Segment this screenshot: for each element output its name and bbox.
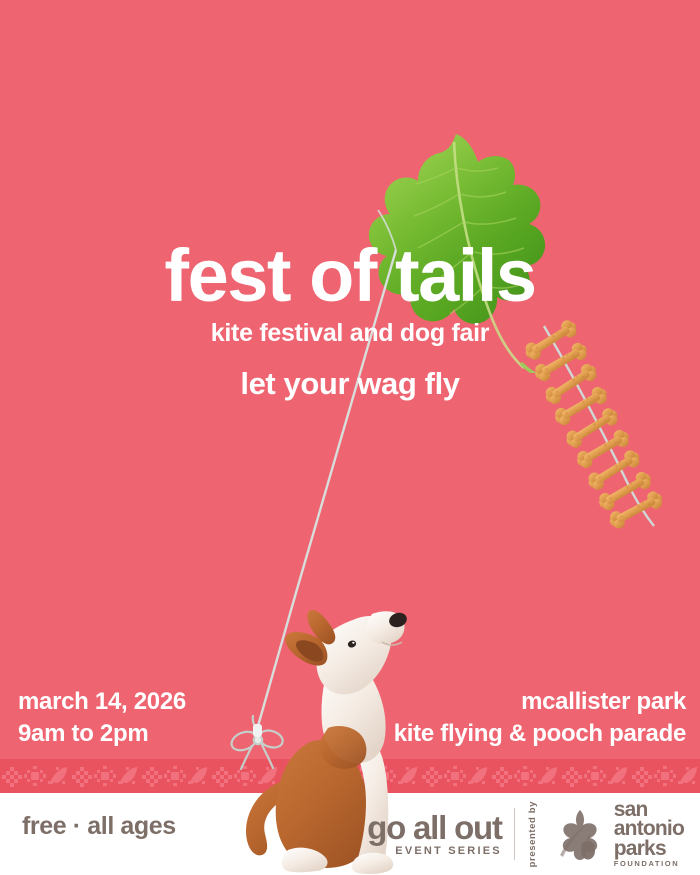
sap-foundation-label: FOUNDATION <box>614 861 684 868</box>
event-time: 9am to 2pm <box>18 718 186 750</box>
sap-line-3: parks <box>614 839 684 858</box>
headline-block: fest of tails kite festival and dog fair… <box>0 240 700 402</box>
page-tagline: let your wag fly <box>0 366 700 402</box>
sap-line-2: antonio <box>614 819 684 838</box>
go-all-out-tagline: EVENT SERIES <box>367 846 502 857</box>
event-activities: kite flying & pooch parade <box>394 718 686 750</box>
go-all-out-wordmark: go all out <box>367 811 502 844</box>
event-location-activities: mcallister park kite flying & pooch para… <box>394 686 686 749</box>
page-title: fest of tails <box>0 240 700 313</box>
event-poster: fest of tails kite festival and dog fair… <box>0 0 700 875</box>
page-subtitle: kite festival and dog fair <box>0 319 700 348</box>
logo-divider <box>514 808 515 860</box>
presented-by-label: presented by <box>527 801 538 867</box>
logo-row: go all out EVENT SERIES presented by <box>367 800 684 868</box>
event-date: march 14, 2026 <box>18 686 186 718</box>
san-antonio-parks-foundation-logo[interactable]: san antonio parks FOUNDATION <box>550 800 684 868</box>
string-bow-on-tail <box>222 714 292 774</box>
event-date-time: march 14, 2026 9am to 2pm <box>18 686 186 749</box>
event-location: mcallister park <box>394 686 686 718</box>
san-antonio-parks-wordmark: san antonio parks FOUNDATION <box>614 800 684 868</box>
free-all-ages-label: free · all ages <box>22 812 176 841</box>
oak-leaf-and-acorn-icon <box>550 805 608 863</box>
go-all-out-logo[interactable]: go all out EVENT SERIES <box>367 811 502 857</box>
